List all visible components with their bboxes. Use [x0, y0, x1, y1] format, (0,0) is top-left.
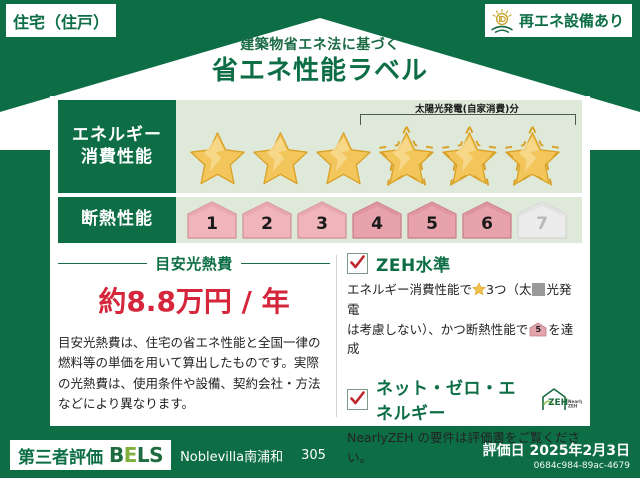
main-content: エネルギー 消費性能 太陽光発電(自家消費)分 断熱性能 1234567 — [58, 100, 582, 420]
zeh-standard-row: ZEH水準 — [347, 251, 582, 276]
title-block: 建築物省エネ法に基づく 省エネ性能ラベル — [0, 38, 640, 88]
property-name: Noblevilla南浦和 — [180, 446, 283, 465]
energy-performance-value: 太陽光発電(自家消費)分 — [176, 100, 582, 193]
insulation-level-scale: 1234567 — [186, 200, 568, 240]
insulation-level-number: 2 — [241, 200, 293, 240]
insulation-performance-row: 断熱性能 1234567 — [58, 197, 582, 243]
star-icon — [375, 125, 438, 191]
energy-performance-label-line1: エネルギー — [72, 125, 162, 147]
page-title: 省エネ性能ラベル — [0, 55, 640, 88]
cost-value: 約8.8万円 / 年 — [58, 280, 330, 320]
star-icon — [249, 125, 312, 191]
bels-jp-label: 第三者評価 — [18, 443, 103, 468]
insulation-level-5: 5 — [406, 200, 458, 240]
badge-house-type-label: 住宅（住戸） — [13, 9, 109, 33]
badge-renewable-label: 再エネ設備あり — [519, 10, 624, 31]
zeh-standard-text-part3: は考慮しない）、かつ断熱性能で — [347, 322, 528, 337]
star-icon — [438, 125, 501, 191]
insulation-level-number: 7 — [516, 200, 568, 240]
zeh-standard-text: エネルギー消費性能で3つ（太光発電 は考慮しない）、かつ断熱性能で5を達成 — [347, 280, 582, 359]
star-rating — [186, 125, 564, 191]
energy-performance-label-line2: 消費性能 — [81, 147, 153, 169]
zeh-nearly-logo-icon: ZEH Nearly ZEH — [540, 386, 582, 412]
insulation-performance-label: 断熱性能 — [58, 197, 176, 243]
inline-star-icon — [472, 282, 486, 296]
insulation-level-number: 5 — [406, 200, 458, 240]
column-divider — [336, 255, 337, 417]
mini-house-badge-num: 5 — [529, 322, 547, 337]
mini-house-badge-icon: 5 — [529, 322, 547, 337]
solar-bracket — [360, 114, 576, 125]
insulation-level-number: 4 — [351, 200, 403, 240]
cost-heading-row: 目安光熱費 — [58, 253, 330, 274]
zeh-standard-checkbox — [347, 253, 368, 274]
badge-renewable: 再エネ設備あり — [485, 4, 632, 37]
insulation-level-number: 1 — [186, 200, 238, 240]
svg-text:ZEH: ZEH — [548, 398, 568, 408]
zeh-netzero-checkbox — [347, 389, 368, 410]
zeh-column: ZEH水準 エネルギー消費性能で3つ（太光発電 は考慮しない）、かつ断熱性能で5… — [347, 251, 582, 421]
cost-heading: 目安光熱費 — [155, 253, 233, 274]
zeh-standard-text-part1: エネルギー消費性能で — [347, 282, 472, 297]
zeh-standard-text-star: 3つ（太 — [486, 282, 531, 297]
sun-solar-icon — [489, 8, 515, 34]
star-icon — [501, 125, 564, 191]
zeh-netzero-row: ネット・ゼロ・エネルギー ZEH Nearly ZEH — [347, 374, 582, 424]
zeh-netzero-title: ネット・ゼロ・エネルギー — [376, 374, 532, 424]
insulation-level-4: 4 — [351, 200, 403, 240]
insulation-level-6: 6 — [461, 200, 513, 240]
energy-performance-row: エネルギー 消費性能 太陽光発電(自家消費)分 — [58, 100, 582, 193]
cost-rule-right — [241, 263, 330, 264]
star-icon — [186, 125, 249, 191]
cost-column: 目安光熱費 約8.8万円 / 年 目安光熱費は、住宅の省エネ性能と全国一律の燃料… — [58, 251, 336, 421]
bels-badge: 第三者評価 BELS — [10, 440, 171, 470]
room-number: 305 — [301, 448, 326, 463]
insulation-level-number: 6 — [461, 200, 513, 240]
zeh-standard-title: ZEH水準 — [376, 251, 451, 276]
cost-rule-left — [58, 263, 147, 264]
insulation-performance-label-text: 断熱性能 — [81, 209, 153, 231]
insulation-level-3: 3 — [296, 200, 348, 240]
energy-performance-label: エネルギー 消費性能 — [58, 100, 176, 193]
title-subtitle: 建築物省エネ法に基づく — [0, 38, 640, 53]
svg-text:ZEH: ZEH — [568, 404, 578, 409]
insulation-level-7: 7 — [516, 200, 568, 240]
insulation-level-number: 3 — [296, 200, 348, 240]
solar-note-label: 太陽光発電(自家消費)分 — [358, 101, 576, 115]
bels-logo: BELS — [109, 443, 163, 467]
cost-description: 目安光熱費は、住宅の省エネ性能と全国一律の燃料等の単価を用いて算出したものです。… — [58, 333, 330, 414]
lower-columns: 目安光熱費 約8.8万円 / 年 目安光熱費は、住宅の省エネ性能と全国一律の燃料… — [58, 251, 582, 421]
zeh-netzero-text: NearlyZEH の要件は評価書をご覧ください。 — [347, 428, 582, 468]
badge-house-type: 住宅（住戸） — [6, 4, 116, 37]
insulation-level-1: 1 — [186, 200, 238, 240]
insulation-level-2: 2 — [241, 200, 293, 240]
star-icon — [312, 125, 375, 191]
insulation-performance-value: 1234567 — [176, 197, 582, 243]
energy-label-card: 住宅（住戸） 再エネ設備あり 建築物省エネ法に基づく 省エネ性能ラベル — [0, 0, 640, 478]
redaction-block — [532, 283, 545, 296]
